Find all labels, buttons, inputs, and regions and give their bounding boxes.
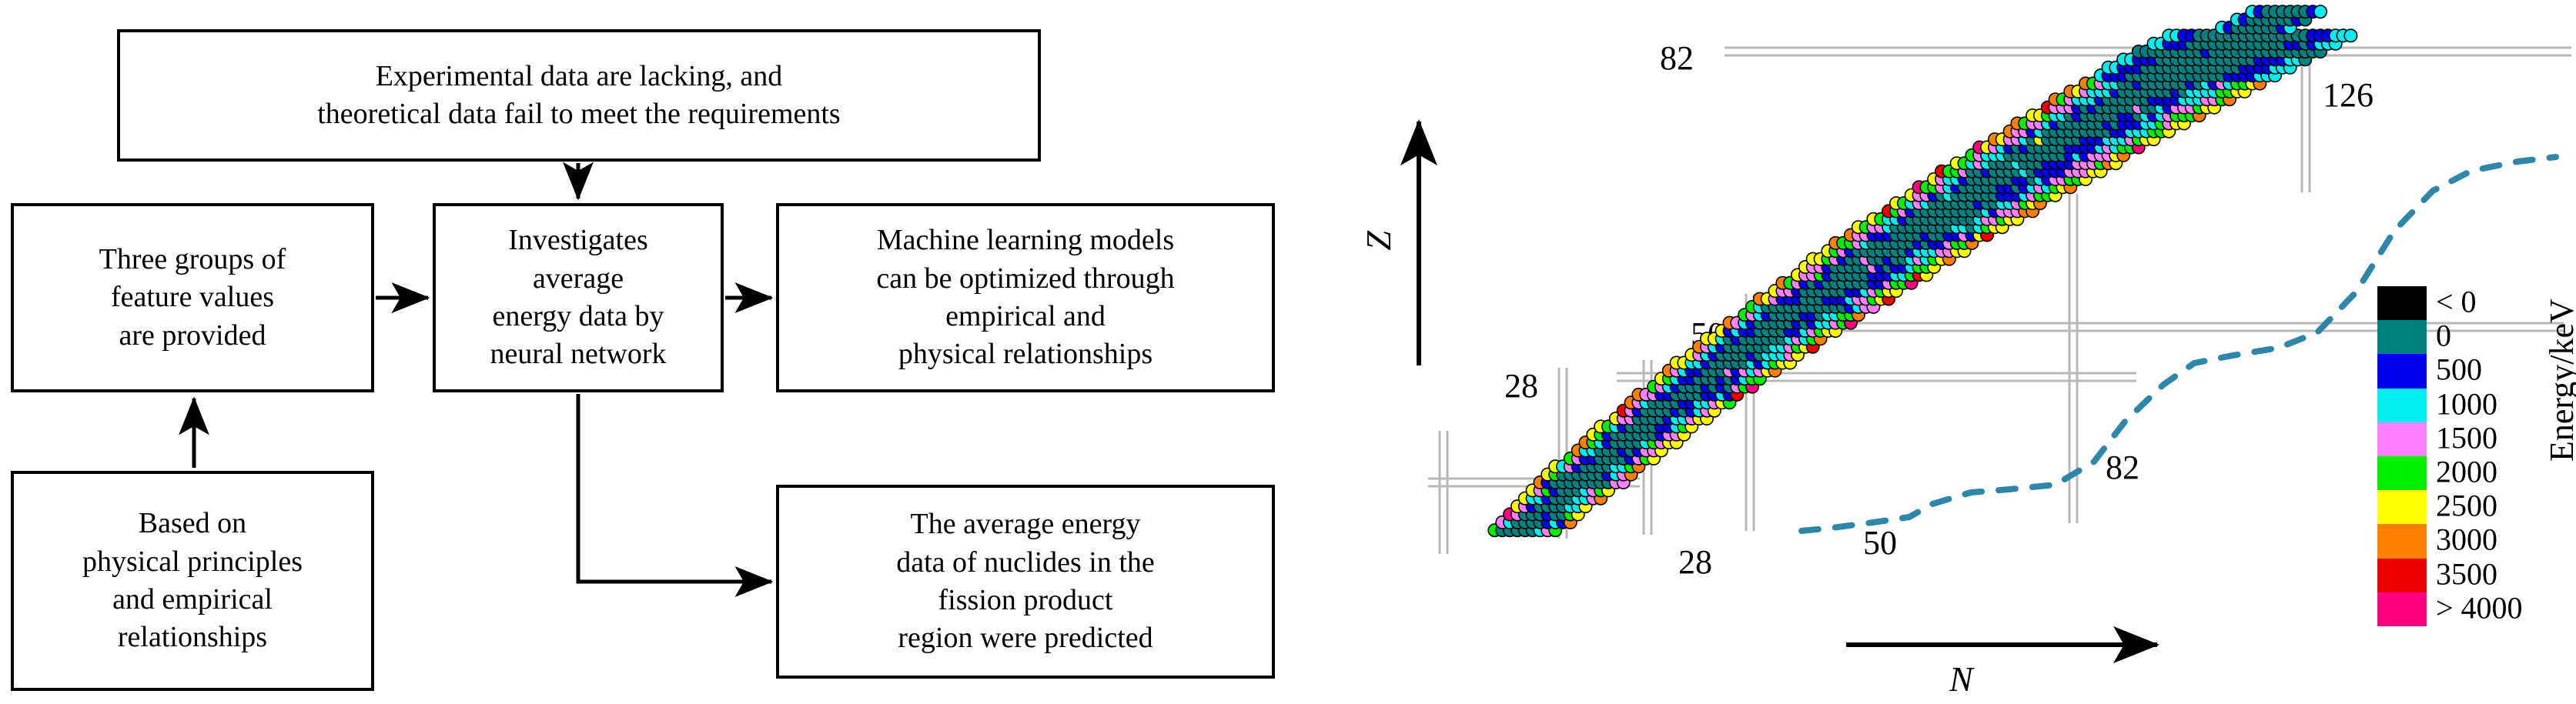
legend-row: 2500 — [2377, 490, 2576, 524]
legend-color-swatch — [2377, 422, 2427, 456]
flowchart-box-features: Three groups of feature values are provi… — [11, 203, 374, 392]
flowchart-box-predicted: The average energy data of nuclides in t… — [776, 485, 1275, 679]
legend-color-swatch — [2377, 490, 2427, 524]
legend-color-swatch — [2377, 286, 2427, 320]
legend-label: 1000 — [2436, 389, 2497, 419]
arrow-investigate-to-predicted — [578, 394, 771, 582]
magic-label-n-82: 82 — [2106, 449, 2139, 486]
nuclide-data-points — [1488, 5, 2357, 536]
legend-label: 2000 — [2436, 456, 2497, 487]
legend-row: > 4000 — [2377, 592, 2576, 626]
legend-label: 3500 — [2436, 559, 2497, 589]
legend-label: < 0 — [2436, 286, 2477, 317]
legend-label: 1500 — [2436, 422, 2497, 453]
legend-label: 3000 — [2436, 525, 2497, 556]
legend-row: 3500 — [2377, 559, 2576, 592]
legend-color-swatch — [2377, 389, 2427, 422]
magic-label-n-28: 28 — [1678, 543, 1712, 581]
magic-label-z-28: 28 — [1504, 367, 1538, 405]
legend-color-swatch — [2377, 320, 2427, 354]
energy-legend: < 00500100015002000250030003500> 4000 En… — [2377, 286, 2576, 632]
legend-label: 2500 — [2436, 491, 2497, 522]
flowchart-box-features-text: Three groups of feature values are provi… — [99, 241, 286, 355]
flowchart-panel: Experimental data are lacking, and theor… — [0, 0, 1293, 704]
flowchart-box-machine-learning-text: Machine learning models can be optimized… — [876, 222, 1174, 374]
magic-label-n-50: 50 — [1863, 524, 1897, 562]
legend-color-swatch — [2377, 524, 2427, 558]
flowchart-box-investigate-text: Investigates average energy data by neur… — [490, 222, 667, 374]
magic-label-z-82: 82 — [1660, 39, 1694, 77]
legend-row: 3000 — [2377, 524, 2576, 558]
legend-color-swatch — [2377, 354, 2427, 388]
magic-label-n-126: 126 — [2323, 76, 2374, 114]
legend-label: 500 — [2436, 355, 2482, 385]
flowchart-box-machine-learning: Machine learning models can be optimized… — [776, 203, 1275, 392]
legend-color-swatch — [2377, 592, 2427, 626]
n-axis-label: N — [1949, 659, 1975, 699]
flowchart-box-basis-text: Based on physical principles and empiric… — [82, 505, 303, 657]
nuclide-point — [2314, 5, 2327, 18]
legend-color-swatch — [2377, 456, 2427, 490]
flowchart-box-predicted-text: The average energy data of nuclides in t… — [896, 505, 1155, 658]
legend-color-swatch — [2377, 559, 2427, 592]
legend-label: > 4000 — [2436, 592, 2523, 623]
legend-axis-title: Energy/keV — [2542, 299, 2576, 462]
flowchart-box-problem-text: Experimental data are lacking, and theor… — [317, 58, 840, 134]
nuclide-point — [2344, 29, 2357, 42]
z-axis-label: Z — [1359, 231, 1398, 251]
flowchart-box-investigate: Investigates average energy data by neur… — [433, 203, 724, 392]
legend-label: 0 — [2436, 321, 2451, 352]
flowchart-box-problem: Experimental data are lacking, and theor… — [117, 29, 1041, 162]
flowchart-box-basis: Based on physical principles and empiric… — [11, 471, 374, 691]
